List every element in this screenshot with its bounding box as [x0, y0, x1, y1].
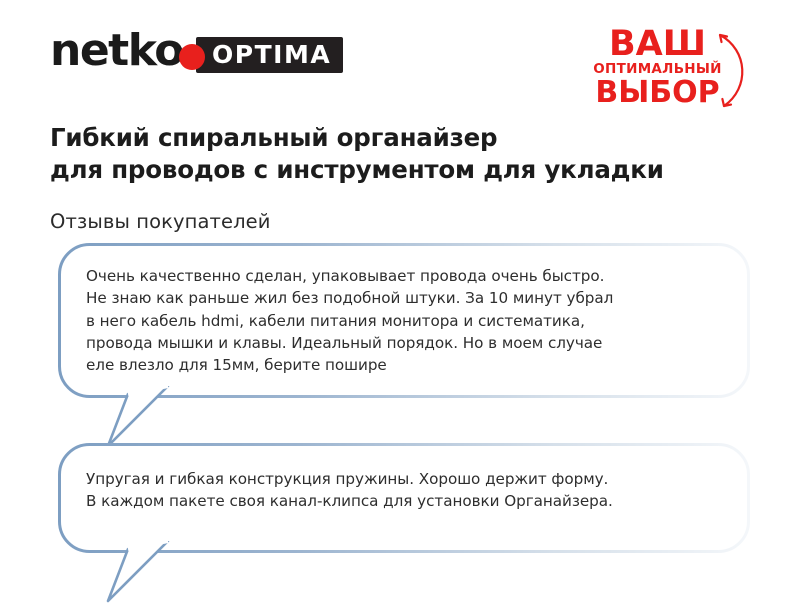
badge-line-bottom: ВЫБОР [585, 78, 730, 108]
brand-wordmark: netko [50, 29, 183, 73]
brand-logo: netko OPTIMA [50, 30, 343, 76]
review-bubble: Очень качественно сделан, упаковывает пр… [58, 243, 750, 398]
review-bubble: Упругая и гибкая конструкция пружины. Хо… [58, 443, 750, 553]
badge-line-top: ВАШ [585, 28, 730, 61]
review-text: Упругая и гибкая конструкция пружины. Хо… [58, 443, 750, 513]
brand-optima-badge: OPTIMA [196, 37, 343, 73]
double-arrow-arc-icon [714, 28, 760, 112]
red-dot-icon [179, 44, 205, 70]
choice-badge: ВАШ ОПТИМАЛЬНЫЙ ВЫБОР [585, 28, 760, 112]
review-text: Очень качественно сделан, упаковывает пр… [58, 243, 750, 377]
choice-badge-lines: ВАШ ОПТИМАЛЬНЫЙ ВЫБОР [585, 28, 730, 108]
reviews-section-heading: Отзывы покупателей [50, 210, 271, 233]
page-title: Гибкий спиральный органайзер для проводо… [50, 122, 664, 185]
